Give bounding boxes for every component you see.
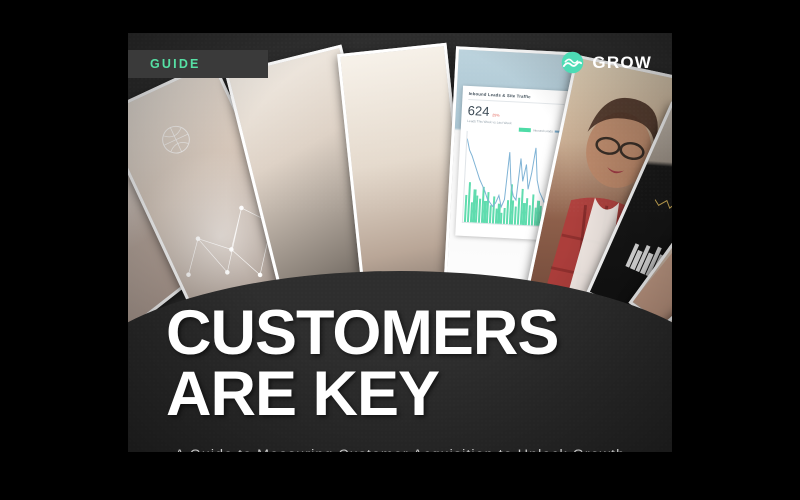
- cover-wedge-mask: [128, 271, 672, 452]
- kpi-delta: 25%: [492, 113, 499, 119]
- photo-fan: Inbound Leads & Site Traffic 624 25% Lea…: [128, 33, 672, 452]
- guide-badge: GUIDE: [128, 50, 268, 78]
- guide-badge-label: GUIDE: [150, 57, 201, 71]
- brand-logo[interactable]: GROW: [561, 51, 652, 74]
- kpi-value: 624: [467, 104, 489, 118]
- legend-label-bars: Inbound Leads: [533, 128, 553, 133]
- ebook-cover: Inbound Leads & Site Traffic 624 25% Lea…: [128, 33, 672, 452]
- legend-swatch-bars: [519, 128, 531, 133]
- page-root: Inbound Leads & Site Traffic 624 25% Lea…: [0, 0, 800, 500]
- wedge-texture: [128, 271, 672, 452]
- brand-name: GROW: [592, 53, 652, 73]
- cover-subtitle: A Guide to Measuring Customer Acquisitio…: [128, 447, 672, 452]
- grow-wave-logo-icon: [561, 51, 584, 74]
